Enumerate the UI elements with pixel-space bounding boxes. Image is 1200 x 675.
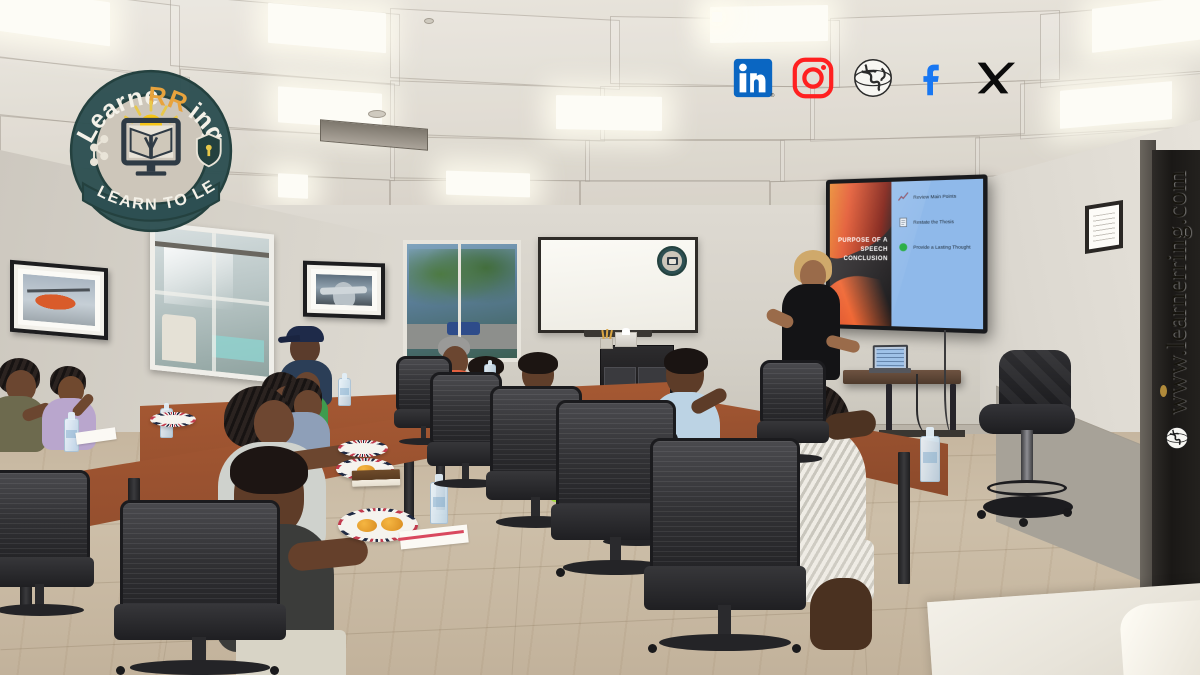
website-url-text: www.learnerring.com bbox=[1161, 170, 1192, 415]
whiteboard bbox=[538, 237, 698, 333]
water-bottle bbox=[338, 378, 351, 406]
chair-base bbox=[130, 660, 271, 674]
chart-line-icon bbox=[898, 192, 909, 204]
ceiling-light-panel bbox=[556, 95, 662, 131]
learnerring-logo-sticker bbox=[657, 246, 687, 276]
interior-window bbox=[150, 221, 274, 382]
smoke-detector-icon bbox=[424, 18, 434, 24]
table-leg bbox=[898, 452, 910, 584]
window-view-seat bbox=[162, 313, 196, 363]
instagram-icon[interactable] bbox=[790, 55, 836, 101]
hair bbox=[230, 446, 308, 494]
book bbox=[352, 469, 401, 487]
power-cable bbox=[916, 374, 946, 434]
globe-icon bbox=[1164, 425, 1190, 451]
stool-caster bbox=[977, 510, 986, 519]
chair-caster bbox=[556, 568, 565, 577]
window-view-trees bbox=[409, 249, 515, 313]
slide-title-line: PURPOSE OF A bbox=[835, 237, 888, 246]
stool-caster bbox=[1063, 508, 1072, 517]
x-twitter-icon[interactable] bbox=[970, 55, 1016, 101]
chair-base bbox=[0, 604, 84, 616]
learnerring-logo: Learne RR ing bbox=[66, 66, 236, 236]
leg bbox=[810, 578, 872, 650]
slide-bullet: Restate the Thesis bbox=[898, 215, 978, 228]
chair-back bbox=[0, 470, 90, 563]
chair-caster bbox=[270, 666, 279, 675]
pencil-cup bbox=[600, 338, 613, 349]
snack-food bbox=[381, 517, 403, 531]
slide-bullet: Review Main Points bbox=[898, 190, 978, 204]
snack-food bbox=[357, 519, 377, 532]
laptop-screen bbox=[877, 349, 904, 367]
hair bbox=[664, 348, 708, 374]
head bbox=[254, 400, 294, 446]
chair-seat bbox=[114, 604, 287, 640]
stool-caster bbox=[1019, 518, 1028, 527]
paper-plate bbox=[150, 412, 196, 427]
document-icon bbox=[898, 217, 909, 229]
laptop-lid bbox=[873, 345, 908, 370]
smoke-detector-icon bbox=[368, 110, 386, 118]
power-cable bbox=[944, 330, 964, 434]
stool-base bbox=[983, 496, 1073, 518]
paper-plate bbox=[338, 440, 388, 457]
framed-osprey-photo bbox=[303, 261, 385, 320]
chair-base bbox=[659, 634, 791, 652]
logo-svg: Learne RR ing bbox=[66, 66, 236, 236]
slide-bullet-panel: Review Main Points Restate the Thesis Pr… bbox=[892, 179, 983, 330]
water-bottle bbox=[920, 436, 940, 482]
mesh-task-chair[interactable] bbox=[650, 438, 800, 658]
chair-back bbox=[650, 438, 800, 574]
linkedin-icon[interactable]: ® bbox=[730, 55, 776, 101]
osprey-photo bbox=[316, 274, 372, 306]
chair-seat bbox=[0, 557, 94, 587]
ceiling-light-panel bbox=[278, 173, 308, 199]
chair-back bbox=[760, 360, 826, 426]
stool-cylinder bbox=[1021, 430, 1033, 482]
presenter-laptop bbox=[869, 345, 911, 373]
tissue-box bbox=[615, 332, 637, 347]
ceiling-light-panel bbox=[446, 171, 530, 198]
mesh-task-chair[interactable] bbox=[0, 470, 90, 620]
ceiling-light-panel bbox=[710, 5, 828, 43]
chair-caster bbox=[648, 644, 657, 653]
slide-bullet-text: Provide a Lasting Thought bbox=[913, 244, 970, 250]
green-dot-icon bbox=[898, 242, 909, 253]
framed-certificate bbox=[1085, 200, 1123, 254]
classroom-photo: PURPOSE OF A SPEECH CONCLUSION Review Ma… bbox=[0, 0, 1200, 675]
chair-seat bbox=[644, 566, 806, 610]
shield-icon bbox=[197, 134, 221, 166]
facebook-icon[interactable] bbox=[910, 55, 956, 101]
chair-back bbox=[120, 500, 280, 612]
window-view-car bbox=[447, 322, 480, 336]
laptop-base bbox=[869, 368, 911, 373]
window-view-panel bbox=[212, 335, 264, 363]
slide-bullet: Provide a Lasting Thought bbox=[898, 241, 978, 253]
chair-caster bbox=[792, 644, 801, 653]
website-url-watermark: www.learnerring.com bbox=[1161, 170, 1192, 451]
svg-text:®: ® bbox=[770, 92, 775, 99]
chair-caster bbox=[116, 666, 125, 675]
hair bbox=[518, 352, 558, 374]
social-icon-row: ® bbox=[730, 55, 1016, 101]
ceiling-light-panel bbox=[712, 12, 722, 22]
stool-footring bbox=[987, 480, 1067, 496]
slide-bullet-text: Review Main Points bbox=[913, 193, 956, 200]
podium-leg bbox=[886, 384, 892, 436]
helicopter-photo bbox=[23, 274, 95, 326]
globe-icon[interactable] bbox=[850, 55, 896, 101]
mesh-task-chair[interactable] bbox=[120, 500, 280, 675]
framed-helicopter-photo bbox=[10, 260, 108, 341]
slide-bullet-text: Restate the Thesis bbox=[913, 219, 954, 225]
drafting-stool[interactable] bbox=[975, 350, 1081, 540]
